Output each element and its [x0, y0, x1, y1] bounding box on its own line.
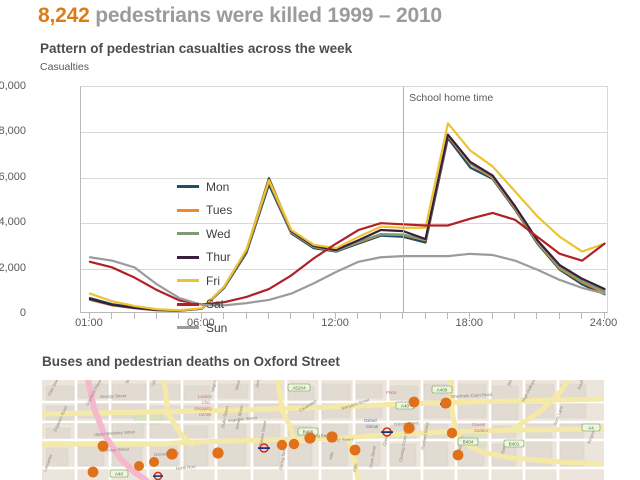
- legend-label: Sun: [206, 322, 227, 334]
- school-home-time-line: [403, 87, 404, 312]
- legend-item-tues[interactable]: Tues: [177, 199, 232, 223]
- svg-text:Circus: Circus: [366, 424, 378, 429]
- svg-text:Covent: Covent: [472, 422, 486, 427]
- svg-text:A40: A40: [115, 472, 124, 477]
- y-axis-tick-label: 6,000: [0, 171, 32, 183]
- legend-item-fri[interactable]: Fri: [177, 269, 232, 293]
- series-line-sun: [90, 254, 605, 306]
- y-axis-tick-label: 4,000: [0, 216, 32, 228]
- y-axis-tick-label: 2,000: [0, 262, 32, 274]
- legend-label: Mon: [206, 181, 229, 193]
- svg-text:A40: A40: [401, 404, 410, 409]
- svg-text:A400: A400: [437, 388, 448, 393]
- x-axis-tick-label: 01:00: [75, 317, 103, 329]
- legend-item-mon[interactable]: Mon: [177, 175, 232, 199]
- chart-axis-label: Casualties: [40, 61, 89, 73]
- svg-text:Plaza: Plaza: [386, 390, 397, 395]
- chart-title: Pattern of pedestrian casualties across …: [40, 41, 352, 56]
- series-line-thur: [90, 135, 605, 311]
- legend-label: Thur: [206, 251, 231, 263]
- page-title: 8,242 pedestrians were killed 1999 – 201…: [38, 4, 442, 28]
- svg-text:London: London: [198, 394, 213, 399]
- legend-label: Tues: [206, 204, 232, 216]
- legend-swatch-icon: [177, 303, 199, 306]
- legend-swatch-icon: [177, 185, 199, 188]
- map-title: Buses and pedestrian deaths on Oxford St…: [42, 354, 340, 369]
- series-line-fri: [90, 123, 605, 310]
- series-line-wed: [90, 135, 605, 311]
- svg-text:B404: B404: [463, 440, 474, 445]
- map-container[interactable]: Cato Street Crawford Place Edgware Road …: [42, 380, 604, 480]
- y-axis-tick-label: 0: [20, 307, 32, 319]
- legend-swatch-icon: [177, 279, 199, 282]
- legend-label: Sat: [206, 298, 224, 310]
- legend-swatch-icon: [177, 232, 199, 235]
- x-axis-tick-label: 12:00: [321, 317, 349, 329]
- y-axis-tick-label: 10,000: [0, 80, 32, 92]
- school-home-time-annotation: School home time: [409, 92, 493, 104]
- chart-series-lines: [81, 87, 609, 314]
- legend-label: Wed: [206, 228, 230, 240]
- svg-text:Garden: Garden: [474, 428, 489, 433]
- headline-number: 8,242: [38, 4, 90, 27]
- legend-swatch-icon: [177, 256, 199, 259]
- legend-label: Fri: [206, 275, 220, 287]
- legend-swatch-icon: [177, 209, 199, 212]
- svg-text:Shopping: Shopping: [194, 406, 212, 411]
- legend-item-thur[interactable]: Thur: [177, 246, 232, 270]
- svg-text:Centre: Centre: [199, 412, 212, 417]
- svg-text:Chic: Chic: [202, 400, 210, 405]
- svg-text:Oxford: Oxford: [364, 418, 377, 423]
- y-axis-tick-label: 8,000: [0, 125, 32, 137]
- svg-text:George Street: George Street: [100, 393, 127, 399]
- x-axis-tick-label: 18:00: [456, 317, 484, 329]
- svg-text:A5204: A5204: [292, 386, 306, 391]
- legend-swatch-icon: [177, 326, 199, 329]
- infographic-page: 8,242 pedestrians were killed 1999 – 201…: [0, 0, 640, 480]
- svg-text:A4: A4: [588, 426, 594, 431]
- legend-item-sat[interactable]: Sat: [177, 293, 232, 317]
- x-axis-tick-label: 24:00: [590, 317, 618, 329]
- street-map[interactable]: Cato Street Crawford Place Edgware Road …: [42, 380, 604, 480]
- svg-text:B401: B401: [509, 442, 520, 447]
- headline-text: pedestrians were killed 1999 – 2010: [90, 4, 442, 27]
- legend-item-sun[interactable]: Sun: [177, 316, 232, 340]
- chart-legend: MonTuesWedThurFriSatSun: [177, 175, 232, 340]
- legend-item-wed[interactable]: Wed: [177, 222, 232, 246]
- chart-plot-area: School home time MonTuesWedThurFriSatSun: [80, 86, 608, 313]
